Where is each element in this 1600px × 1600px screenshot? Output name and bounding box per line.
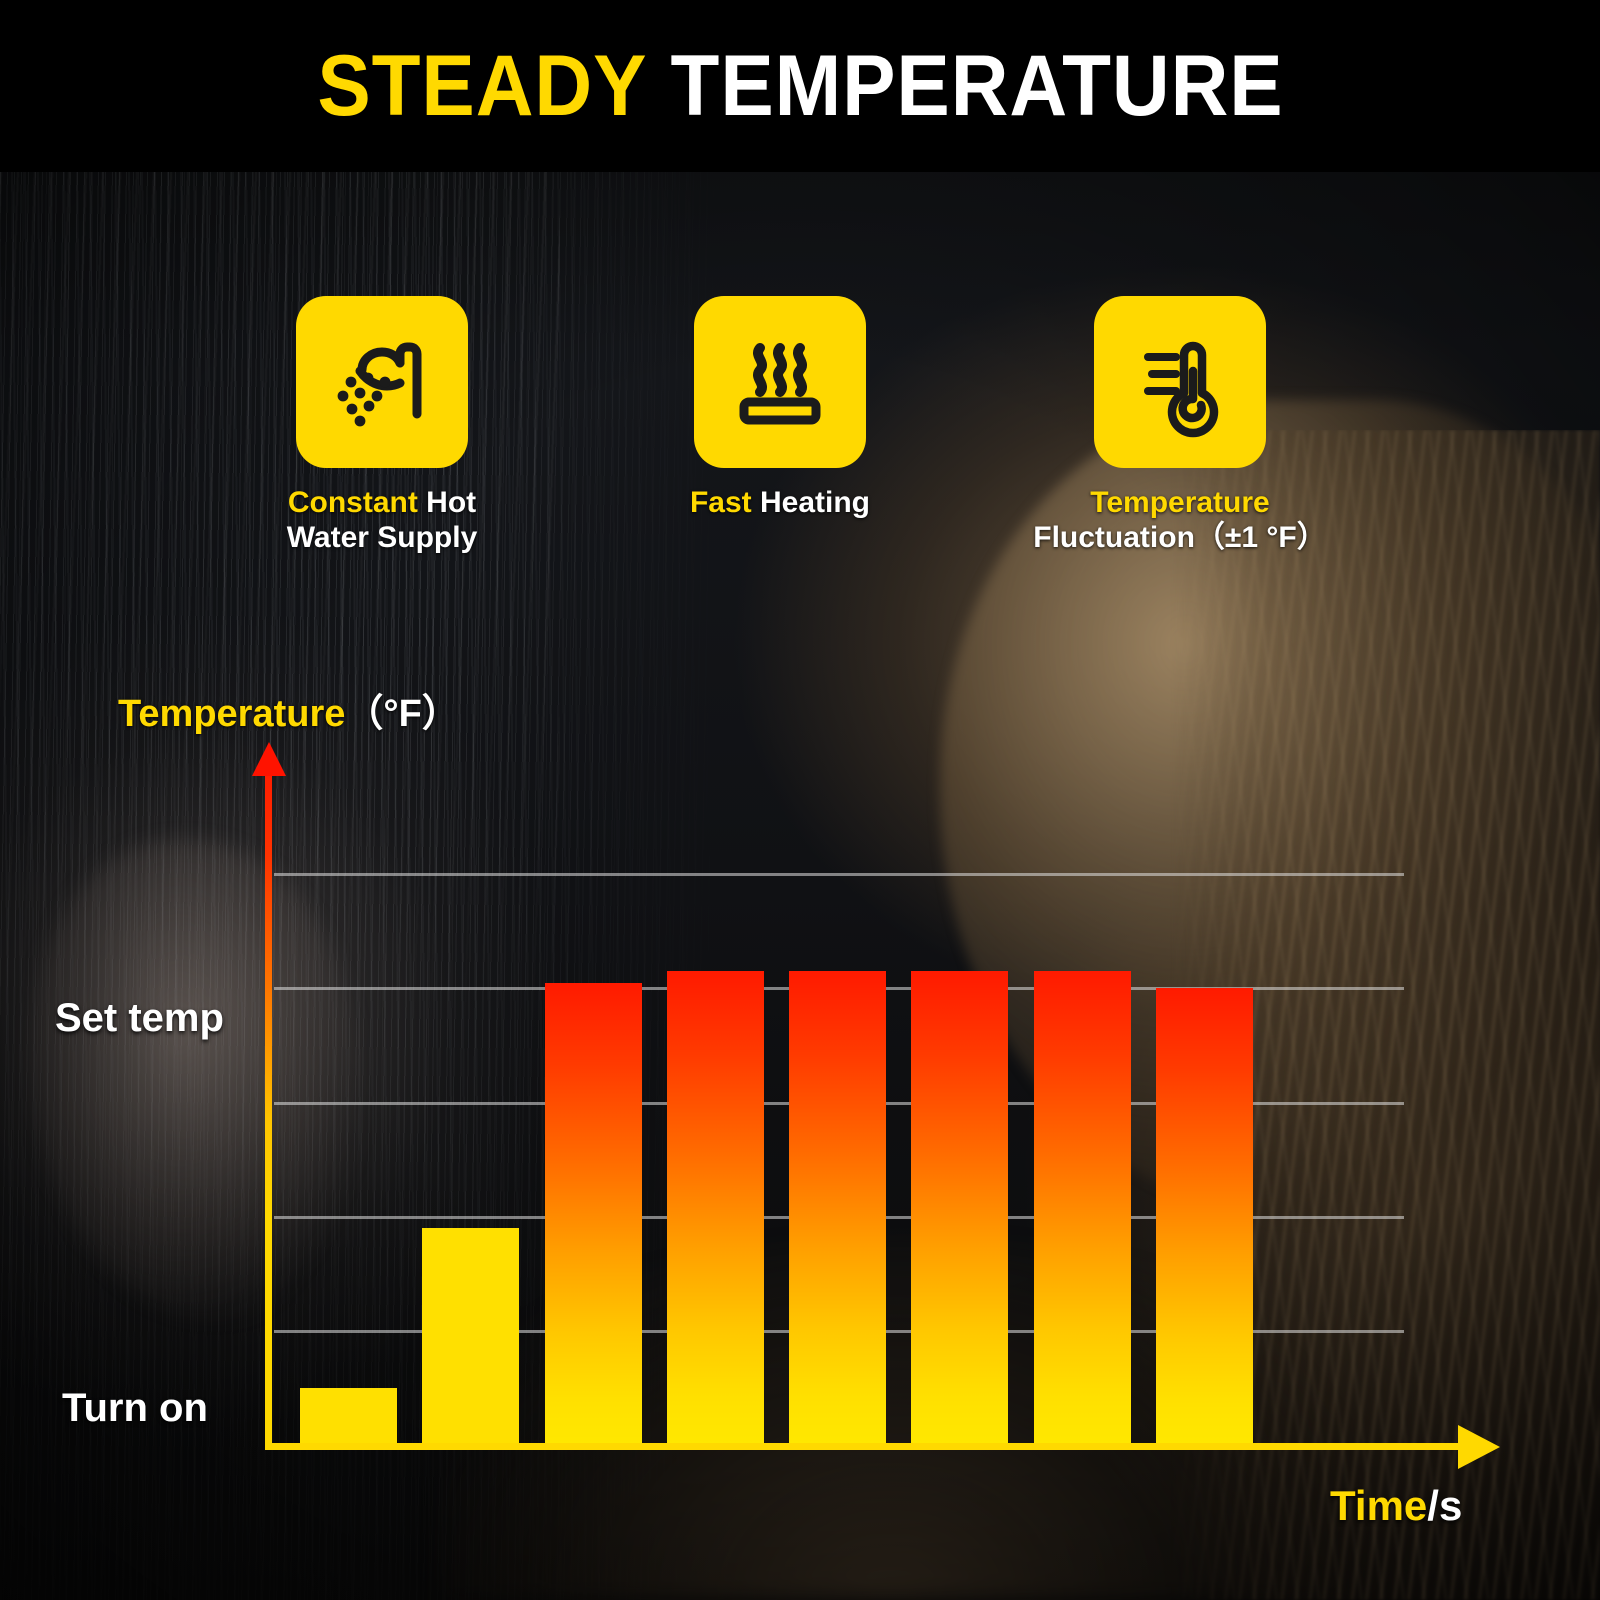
- x-axis-title-unit: /s: [1427, 1482, 1462, 1529]
- bar: [789, 971, 886, 1445]
- y-axis-title-label: Temperature: [118, 693, 345, 735]
- gridline: [274, 873, 1404, 876]
- bar: [667, 971, 764, 1445]
- infographic-root: STEADY TEMPERATURE: [0, 0, 1600, 1600]
- bar: [545, 983, 642, 1445]
- x-axis-arrow-icon: [1458, 1425, 1500, 1469]
- x-axis-title: Time/s: [1330, 1482, 1462, 1530]
- y-axis-title: Temperature（°F）: [118, 682, 460, 737]
- temperature-chart: Temperature（°F） Set temp Turn on Time/s: [0, 0, 1600, 1600]
- set-temp-label: Set temp: [55, 996, 224, 1041]
- bar: [422, 1228, 519, 1445]
- bar: [1156, 988, 1253, 1445]
- y-axis-arrow-icon: [252, 742, 286, 776]
- x-axis-title-label: Time: [1330, 1482, 1427, 1529]
- y-axis-title-unit: （°F）: [345, 693, 459, 735]
- bar: [1034, 971, 1131, 1445]
- bar: [300, 1388, 397, 1445]
- turn-on-label: Turn on: [62, 1386, 208, 1431]
- bar: [911, 971, 1008, 1445]
- x-axis-line: [265, 1443, 1465, 1450]
- y-axis-line: [265, 760, 272, 1450]
